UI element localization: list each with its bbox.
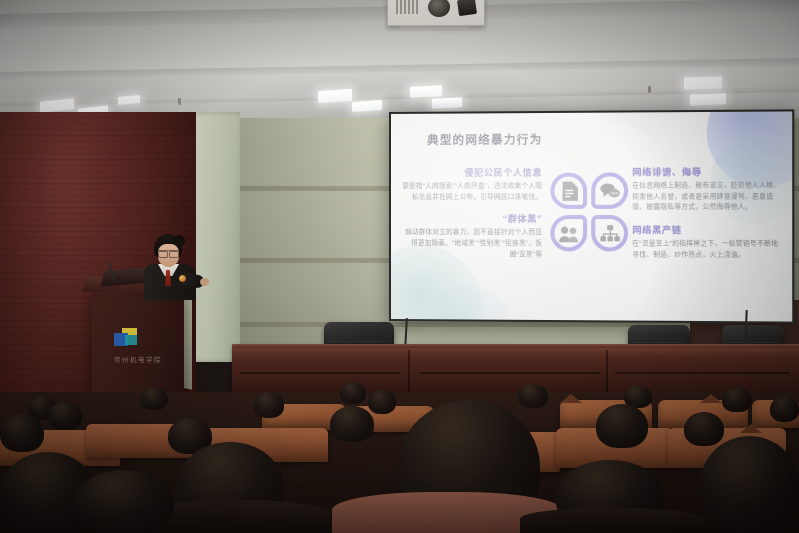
speech-bubbles-glyph [599, 180, 620, 200]
audience-head [330, 406, 374, 442]
sprinkler-head [648, 86, 651, 93]
slide-block: 网络诽谤、侮辱 在信息网络上制造、散布谣言，贬损他人人格、损害他人名誉，或者是采… [632, 165, 784, 214]
slide-block-text: 要是指“人肉搜索”“人肉开盒”，违法收集个人隐私信息并在网上公布，引导网民口诛笔… [399, 182, 542, 204]
institution-logo [114, 328, 138, 346]
network-hierarchy-icon [591, 215, 628, 252]
slide-block-text: 在信息网络上制造、散布谣言，贬损他人人格、损害他人名誉，或者是采用肆意漫骂、恶意… [632, 181, 784, 214]
presenter-emblem [179, 275, 186, 282]
ceiling-light [684, 76, 722, 89]
desk-groove [240, 372, 400, 374]
chair-seam [726, 342, 781, 343]
slide-block-heading: 网络黑产链 [632, 223, 784, 236]
lecture-hall-photo: 典型的网络暴力行为 侵犯公民个人信息 要是指“人肉搜索”“人肉开盒”，违法收集个… [0, 0, 799, 533]
audience-head [722, 388, 752, 412]
slide-column-right: 网络诽谤、侮辱 在信息网络上制造、散布谣言，贬损他人人格、损害他人名誉，或者是采… [632, 165, 784, 271]
audience-head [0, 414, 44, 452]
slide-column-left: 侵犯公民个人信息 要是指“人肉搜索”“人肉开盒”，违法收集个人隐私信息并在网上公… [399, 166, 542, 270]
two-people-icon [550, 215, 587, 251]
network-hierarchy-glyph [599, 223, 620, 243]
audience-head [596, 404, 648, 448]
podium: 常州机电学院 [92, 288, 184, 396]
audience-head [140, 388, 168, 410]
slide-block: 网络黑产链 在“流量至上”的指挥棒之下，一些营销号不断地寻找、制造、炒作热点，火… [632, 223, 784, 261]
two-people-glyph [559, 223, 579, 243]
projector-lens [428, 0, 450, 17]
slide-icon-cluster [549, 171, 629, 252]
projector-vent [396, 0, 420, 14]
desk-groove [615, 372, 790, 374]
document-glyph [559, 181, 579, 201]
audience-head [340, 382, 366, 404]
desk-groove [420, 372, 600, 374]
audience-head [254, 392, 284, 418]
ceiling-light [432, 97, 462, 109]
slide-body: 侵犯公民个人信息 要是指“人肉搜索”“人肉开盒”，违法收集个人隐私信息并在网上公… [391, 165, 792, 309]
speech-bubbles-icon [591, 172, 628, 209]
document-icon [550, 172, 587, 208]
slide-block-heading: 网络诽谤、侮辱 [632, 165, 784, 179]
ceiling-projector [387, 0, 485, 26]
audience-head [684, 412, 724, 446]
slide-block-heading: 侵犯公民个人信息 [399, 166, 542, 179]
slide-block: 侵犯公民个人信息 要是指“人肉搜索”“人肉开盒”，违法收集个人隐私信息并在网上公… [399, 166, 542, 204]
slide-block-text: 在“流量至上”的指挥棒之下，一些营销号不断地寻找、制造、炒作热点，火上浇油。 [632, 239, 784, 261]
ceiling-light [352, 100, 382, 112]
ceiling-light [318, 89, 352, 103]
chair-seam [632, 342, 687, 343]
slide-block-text: 煽动群体对立的暴力，因不直接针对个人而显得更加隐蔽。“地域黑”“性别黑”“民族黑… [399, 228, 542, 260]
presenter [138, 234, 200, 298]
ceiling-light [410, 85, 442, 98]
seat-arch-detail [740, 424, 762, 433]
audience-head-foreground [700, 436, 799, 533]
slide-block-heading: “群体黑” [399, 212, 542, 225]
audience-shoulder-foreground [520, 508, 704, 533]
audience-head [770, 396, 799, 422]
ceiling-light [690, 93, 726, 105]
seat-arch-detail [560, 394, 582, 403]
audience-head-foreground [74, 470, 174, 533]
audience-head [518, 384, 548, 408]
presenter-hand [200, 278, 209, 286]
projector-knob [457, 0, 477, 16]
seat-arch-detail [700, 394, 722, 403]
sprinkler-head [178, 98, 181, 105]
audience-head [48, 402, 82, 430]
audience-head [368, 390, 396, 414]
slide-title: 典型的网络暴力行为 [427, 131, 542, 148]
logo-shape-teal [125, 335, 137, 345]
projection-screen-frame: 典型的网络暴力行为 侵犯公民个人信息 要是指“人肉搜索”“人肉开盒”，违法收集个… [389, 109, 794, 323]
slide-block: “群体黑” 煽动群体对立的暴力，因不直接针对个人而显得更加隐蔽。“地域黑”“性别… [399, 212, 542, 260]
chair-seam [328, 341, 390, 342]
projection-screen: 典型的网络暴力行为 侵犯公民个人信息 要是指“人肉搜索”“人肉开盒”，违法收集个… [391, 111, 792, 321]
presenter-glasses [158, 250, 179, 256]
podium-institution-label: 常州机电学院 [92, 354, 184, 364]
